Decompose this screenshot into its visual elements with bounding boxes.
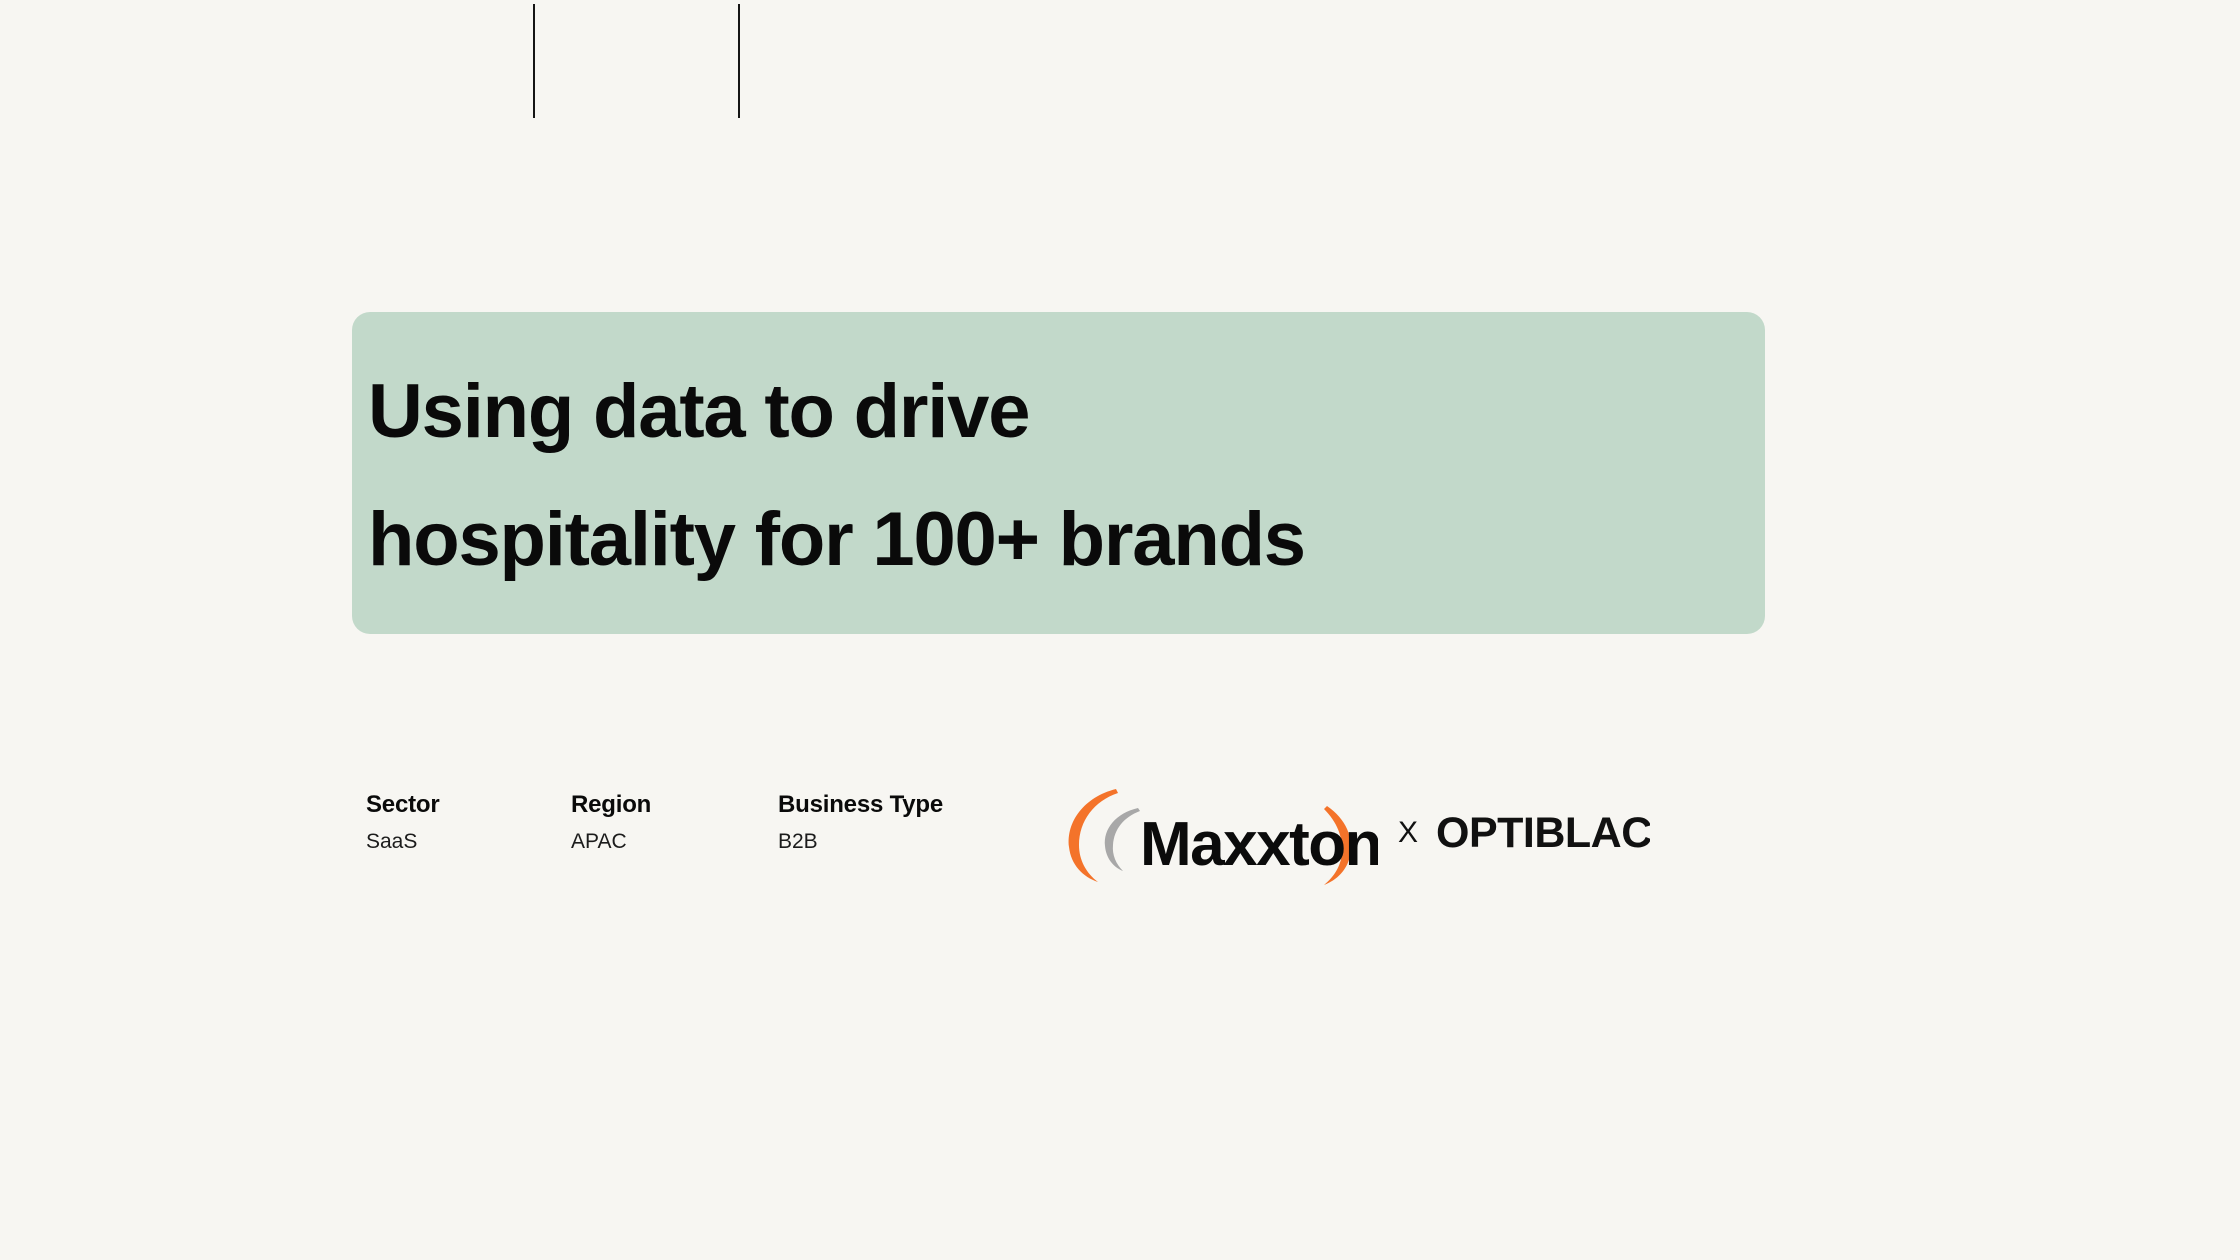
maxxton-logo: Maxxton	[1058, 775, 1378, 890]
slide-canvas: Using data to drive hospitality for 100+…	[0, 0, 2240, 1260]
meta-value-business-type: B2B	[778, 829, 1038, 855]
hero-card: Using data to drive hospitality for 100+…	[352, 312, 1765, 634]
maxxton-inner-arc	[1105, 808, 1140, 871]
maxxton-wordmark: Maxxton	[1140, 810, 1378, 879]
meta-group-sector: Sector SaaS	[366, 790, 533, 855]
optiblack-wordmark: OPTIBLACK	[1436, 809, 1650, 857]
meta-value-region: APAC	[571, 829, 738, 855]
meta-group-region: Region APAC	[533, 790, 738, 855]
meta-label-sector: Sector	[366, 790, 533, 820]
meta-divider-2	[738, 4, 740, 118]
meta-divider-1	[533, 4, 535, 118]
page-title-wrapper: Using data to drive hospitality for 100+…	[368, 348, 1708, 604]
logo-separator-x: X	[1382, 818, 1434, 848]
meta-group-business-type: Business Type B2B	[738, 790, 1038, 855]
logo-lockup: Maxxton X OPTIBLACK	[1058, 772, 1650, 892]
meta-label-business-type: Business Type	[778, 790, 1038, 820]
meta-label-region: Region	[571, 790, 738, 820]
page-title: Using data to drive hospitality for 100+…	[368, 348, 1708, 604]
meta-value-sector: SaaS	[366, 829, 533, 855]
optiblack-logo: OPTIBLACK	[1436, 807, 1650, 859]
metadata-row: Sector SaaS Region APAC Business Type B2…	[366, 790, 1038, 915]
